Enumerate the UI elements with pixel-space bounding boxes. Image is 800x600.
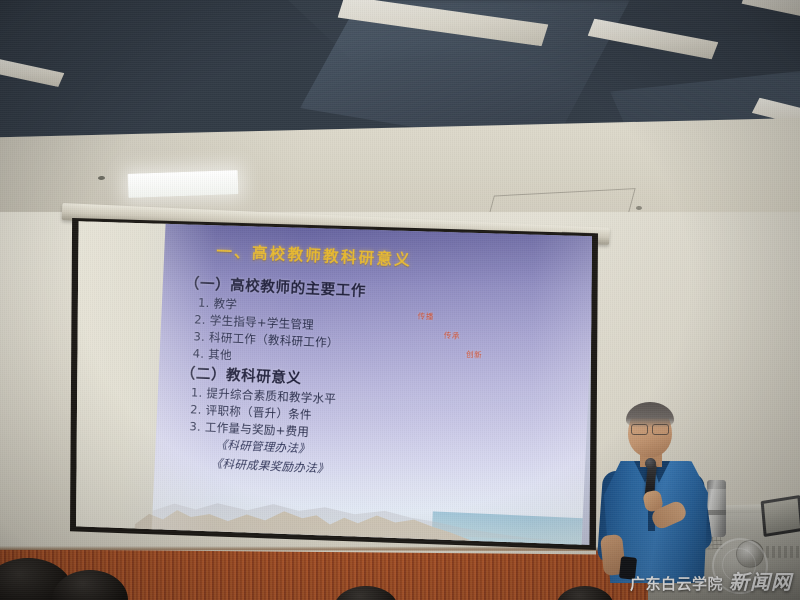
slide-annotation: 传播	[417, 311, 434, 323]
presentation-slide: 一、高校教师教科研意义 （一）高校教师的主要工作 1. 教学 2. 学生指导+学…	[151, 219, 592, 545]
glasses-icon	[631, 424, 669, 433]
podium-brand-text	[766, 546, 800, 558]
smoke-detector-icon	[636, 206, 642, 210]
lecture-hall-photo: 一、高校教师教科研意义 （一）高校教师的主要工作 1. 教学 2. 学生指导+学…	[0, 0, 800, 600]
recessed-light	[128, 170, 239, 198]
watermark-publication: 新闻网	[729, 566, 792, 595]
slide-document-reference: 《科研成果奖励办法》	[210, 455, 329, 476]
presenter	[600, 405, 730, 580]
slide-title: 一、高校教师教科研意义	[216, 239, 413, 270]
laptop-screen-surface	[764, 498, 800, 533]
slide-text-layer: 一、高校教师教科研意义 （一）高校教师的主要工作 1. 教学 2. 学生指导+学…	[151, 219, 592, 545]
projection-screen: 一、高校教师教科研意义 （一）高校教师的主要工作 1. 教学 2. 学生指导+学…	[76, 219, 592, 545]
slide-annotation: 创新	[466, 349, 483, 361]
watermark: 广东白云学院 新闻网	[630, 566, 792, 595]
slide-section-1-item: 1. 教学	[198, 295, 238, 313]
watermark-institution: 广东白云学院	[630, 573, 723, 594]
slide-section-1-item: 4. 其他	[192, 345, 232, 363]
slide-annotation: 传承	[444, 330, 461, 342]
slide-document-reference: 《科研管理办法》	[215, 436, 310, 456]
